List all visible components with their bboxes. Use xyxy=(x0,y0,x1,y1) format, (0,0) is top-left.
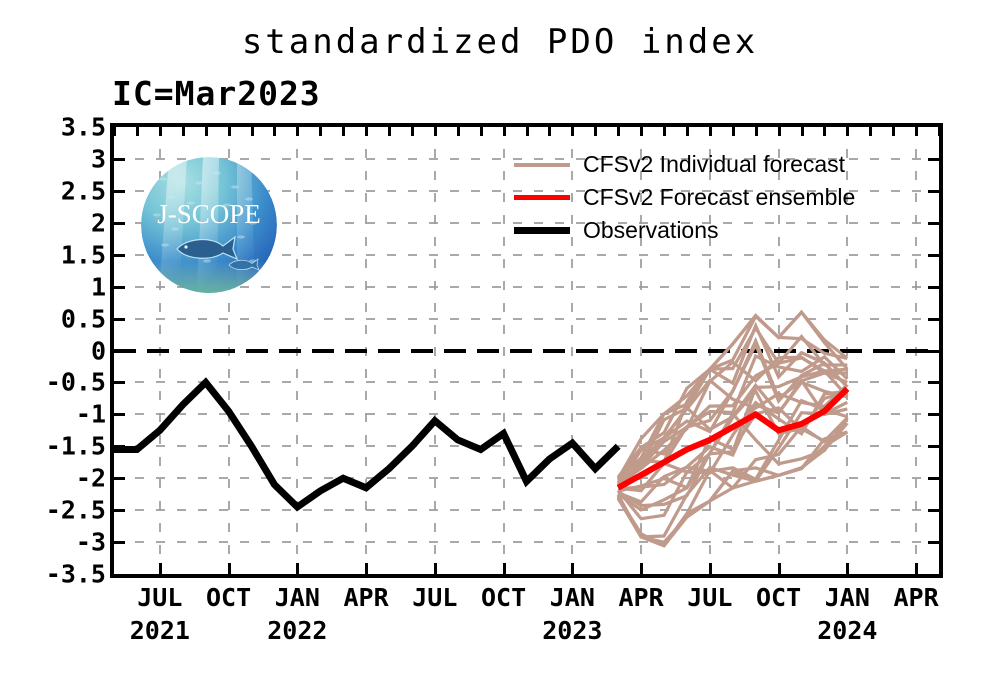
y-axis-tick-label: 3 xyxy=(91,146,106,171)
logo-text: J-SCOPE xyxy=(157,199,261,229)
page-title: standardized PDO index xyxy=(0,22,1000,62)
x-axis-tick-label: JAN xyxy=(275,583,320,612)
y-axis-tick-label: 1 xyxy=(91,274,106,299)
y-axis-tick-label: 0 xyxy=(91,338,106,363)
j-scope-logo: J-SCOPE xyxy=(141,157,277,293)
x-axis-year-label: 2024 xyxy=(817,616,877,645)
x-axis-tick-label: JUL xyxy=(687,583,732,612)
x-axis-labels: JULOCTJANAPRJULOCTJANAPRJULOCTJANAPR2021… xyxy=(110,583,943,678)
logo-artwork: J-SCOPE xyxy=(141,157,277,293)
legend-color-swatch xyxy=(514,195,570,200)
x-axis-tick-label: OCT xyxy=(481,583,526,612)
legend-label: Observations xyxy=(583,217,719,244)
y-axis-tick-label: 2.5 xyxy=(61,178,106,203)
legend-item[interactable]: CFSv2 Forecast ensemble xyxy=(514,181,855,214)
x-axis-tick-label: JUL xyxy=(137,583,182,612)
y-axis-tick-label: -1.5 xyxy=(46,434,106,459)
x-axis-tick-label: JAN xyxy=(825,583,870,612)
x-axis-tick-label: JAN xyxy=(550,583,595,612)
chart-legend: CFSv2 Individual forecastCFSv2 Forecast … xyxy=(514,148,855,247)
x-axis-tick-label: APR xyxy=(619,583,664,612)
initial-condition-label: IC=Mar2023 xyxy=(112,74,321,113)
legend-label: CFSv2 Forecast ensemble xyxy=(583,184,855,211)
y-axis-tick-label: 2 xyxy=(91,210,106,235)
chart-page: standardized PDO index IC=Mar2023 3.532.… xyxy=(0,0,1000,682)
legend-color-swatch xyxy=(514,227,570,234)
y-axis-tick-label: 0.5 xyxy=(61,306,106,331)
x-axis-year-label: 2022 xyxy=(267,616,327,645)
y-axis-tick-label: -0.5 xyxy=(46,370,106,395)
x-axis-tick-label: OCT xyxy=(206,583,251,612)
legend-item[interactable]: Observations xyxy=(514,214,855,247)
y-axis-labels: 3.532.521.510.50-0.5-1-1.5-2-2.5-3-3.5 xyxy=(0,123,106,578)
x-axis-tick-label: APR xyxy=(344,583,389,612)
y-axis-tick-label: -1 xyxy=(76,402,106,427)
y-axis-tick-label: 1.5 xyxy=(61,242,106,267)
x-axis-tick-label: OCT xyxy=(756,583,801,612)
legend-item[interactable]: CFSv2 Individual forecast xyxy=(514,148,855,181)
observations-line xyxy=(114,382,618,507)
x-axis-year-label: 2021 xyxy=(130,616,190,645)
y-axis-tick-label: -2.5 xyxy=(46,498,106,523)
y-axis-tick-label: -2 xyxy=(76,466,106,491)
legend-color-swatch xyxy=(514,163,570,167)
y-axis-tick-label: -3 xyxy=(76,530,106,555)
y-axis-tick-label: 3.5 xyxy=(61,115,106,140)
legend-label: CFSv2 Individual forecast xyxy=(583,151,845,178)
x-axis-tick-label: APR xyxy=(894,583,939,612)
x-axis-year-label: 2023 xyxy=(542,616,602,645)
y-axis-tick-label: -3.5 xyxy=(46,562,106,587)
x-axis-tick-label: JUL xyxy=(412,583,457,612)
